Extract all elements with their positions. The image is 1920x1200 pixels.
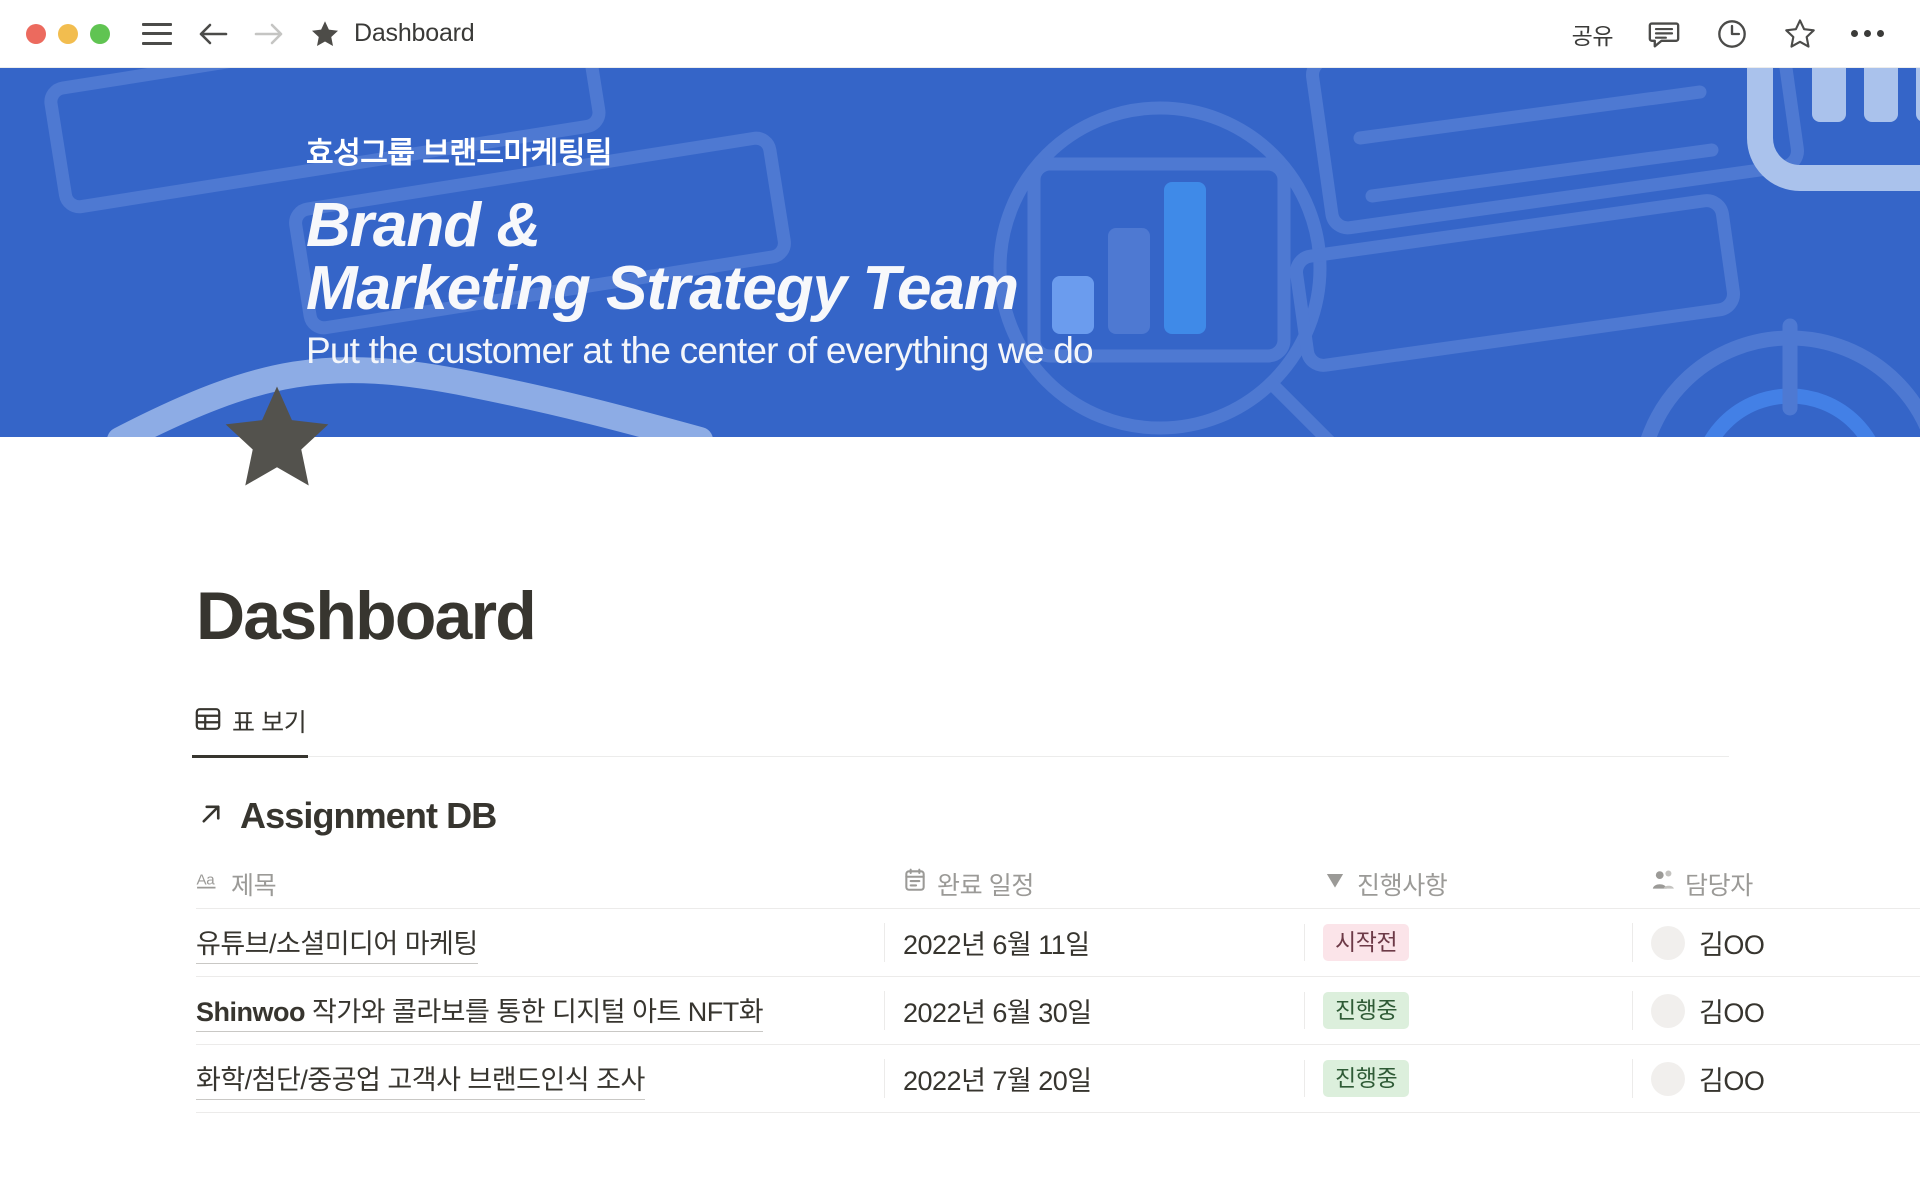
column-header-date[interactable]: 완료 일정 [884,866,1304,902]
column-header-owner[interactable]: 담당자 [1632,866,1920,902]
banner-title-line1: Brand & [306,194,1093,257]
row-date-cell[interactable]: 2022년 6월 30일 [884,991,1304,1030]
tab-table-view-label: 표 보기 [232,703,306,739]
breadcrumb-title[interactable]: Dashboard [354,19,475,48]
status-badge: 진행중 [1323,992,1409,1030]
status-badge: 진행중 [1323,1060,1409,1098]
row-status-cell[interactable]: 진행중 [1304,1060,1632,1098]
view-tabs-bar: 표 보기 [192,699,1729,757]
window-titlebar: Dashboard 공유 [0,0,1920,68]
row-owner-cell[interactable]: 김OO [1632,1059,1920,1098]
column-header-title[interactable]: Aa 제목 [196,866,884,902]
row-owner-name: 김OO [1699,923,1764,962]
breadcrumb-star-icon[interactable] [310,19,340,49]
row-title-cell[interactable]: Shinwoo 작가와 콜라보를 통한 디지털 아트 NFT화 [196,990,884,1032]
table-header-row: Aa 제목 완료 일정 [196,859,1920,909]
titlebar-actions: 공유 [1572,17,1884,51]
table-row[interactable]: 유튜브/소셜미디어 마케팅 2022년 6월 11일 시작전 김OO [196,909,1920,977]
star-outline-icon[interactable] [1783,17,1817,51]
column-header-title-label: 제목 [231,866,276,902]
tab-table-view[interactable]: 표 보기 [192,699,308,758]
banner-title: Brand & Marketing Strategy Team [306,194,1093,320]
row-title-bold: Shinwoo [196,997,305,1027]
menu-icon[interactable] [142,23,172,45]
traffic-lights [26,24,110,44]
select-down-icon [1322,867,1348,900]
person-icon [1650,867,1676,900]
row-date-value: 2022년 7월 20일 [903,1059,1092,1098]
zoom-window-button[interactable] [90,24,110,44]
status-badge: 시작전 [1323,924,1409,962]
column-header-owner-label: 담당자 [1685,866,1753,902]
more-horizontal-icon[interactable] [1851,30,1884,37]
table-row[interactable]: 화학/첨단/중공업 고객사 브랜드인식 조사 2022년 7월 20일 진행중 … [196,1045,1920,1113]
banner-subtitle: Put the customer at the center of everyt… [306,330,1093,372]
avatar [1651,926,1685,960]
row-status-cell[interactable]: 진행중 [1304,992,1632,1030]
banner-title-line2: Marketing Strategy Team [306,257,1093,320]
row-status-cell[interactable]: 시작전 [1304,924,1632,962]
table-grid-icon [194,705,222,738]
banner-text-block: 효성그룹 브랜드마케팅팀 Brand & Marketing Strategy … [306,128,1093,372]
banner-kicker: 효성그룹 브랜드마케팅팀 [306,128,1093,172]
text-aa-icon: Aa [196,867,222,900]
row-owner-name: 김OO [1699,991,1764,1030]
row-title-link[interactable]: 유튜브/소셜미디어 마케팅 [196,922,478,964]
row-owner-cell[interactable]: 김OO [1632,991,1920,1030]
database-title-text: Assignment DB [240,795,496,837]
back-arrow-icon[interactable] [198,19,228,49]
page-title[interactable]: Dashboard [196,577,1920,655]
row-title-rest: 작가와 콜라보를 통한 디지털 아트 NFT화 [305,997,763,1027]
row-date-value: 2022년 6월 11일 [903,923,1090,962]
arrow-up-right-icon [196,799,226,834]
minimize-window-button[interactable] [58,24,78,44]
row-title-cell[interactable]: 유튜브/소셜미디어 마케팅 [196,922,884,964]
forward-arrow-icon[interactable] [254,19,284,49]
row-title-link[interactable]: 화학/첨단/중공업 고객사 브랜드인식 조사 [196,1058,645,1100]
table-row[interactable]: Shinwoo 작가와 콜라보를 통한 디지털 아트 NFT화 2022년 6월… [196,977,1920,1045]
row-date-cell[interactable]: 2022년 6월 11일 [884,923,1304,962]
avatar [1651,1062,1685,1096]
avatar [1651,994,1685,1028]
column-header-status[interactable]: 진행사항 [1304,866,1632,902]
column-header-date-label: 완료 일정 [937,866,1034,902]
svg-text:Aa: Aa [197,871,216,888]
comment-icon[interactable] [1647,17,1681,51]
close-window-button[interactable] [26,24,46,44]
row-title-link[interactable]: Shinwoo 작가와 콜라보를 통한 디지털 아트 NFT화 [196,990,763,1032]
database-title[interactable]: Assignment DB [196,795,1920,837]
page-content: Dashboard 표 보기 Assignment DB [0,437,1920,1113]
row-owner-cell[interactable]: 김OO [1632,923,1920,962]
column-header-status-label: 진행사항 [1357,866,1447,902]
share-button[interactable]: 공유 [1572,17,1613,51]
row-title-cell[interactable]: 화학/첨단/중공업 고객사 브랜드인식 조사 [196,1058,884,1100]
assignment-db-table: Aa 제목 완료 일정 [196,859,1920,1113]
row-date-value: 2022년 6월 30일 [903,991,1092,1030]
row-owner-name: 김OO [1699,1059,1764,1098]
page-icon-star-icon[interactable] [218,380,336,492]
calendar-icon [902,867,928,900]
clock-icon[interactable] [1715,17,1749,51]
row-date-cell[interactable]: 2022년 7월 20일 [884,1059,1304,1098]
